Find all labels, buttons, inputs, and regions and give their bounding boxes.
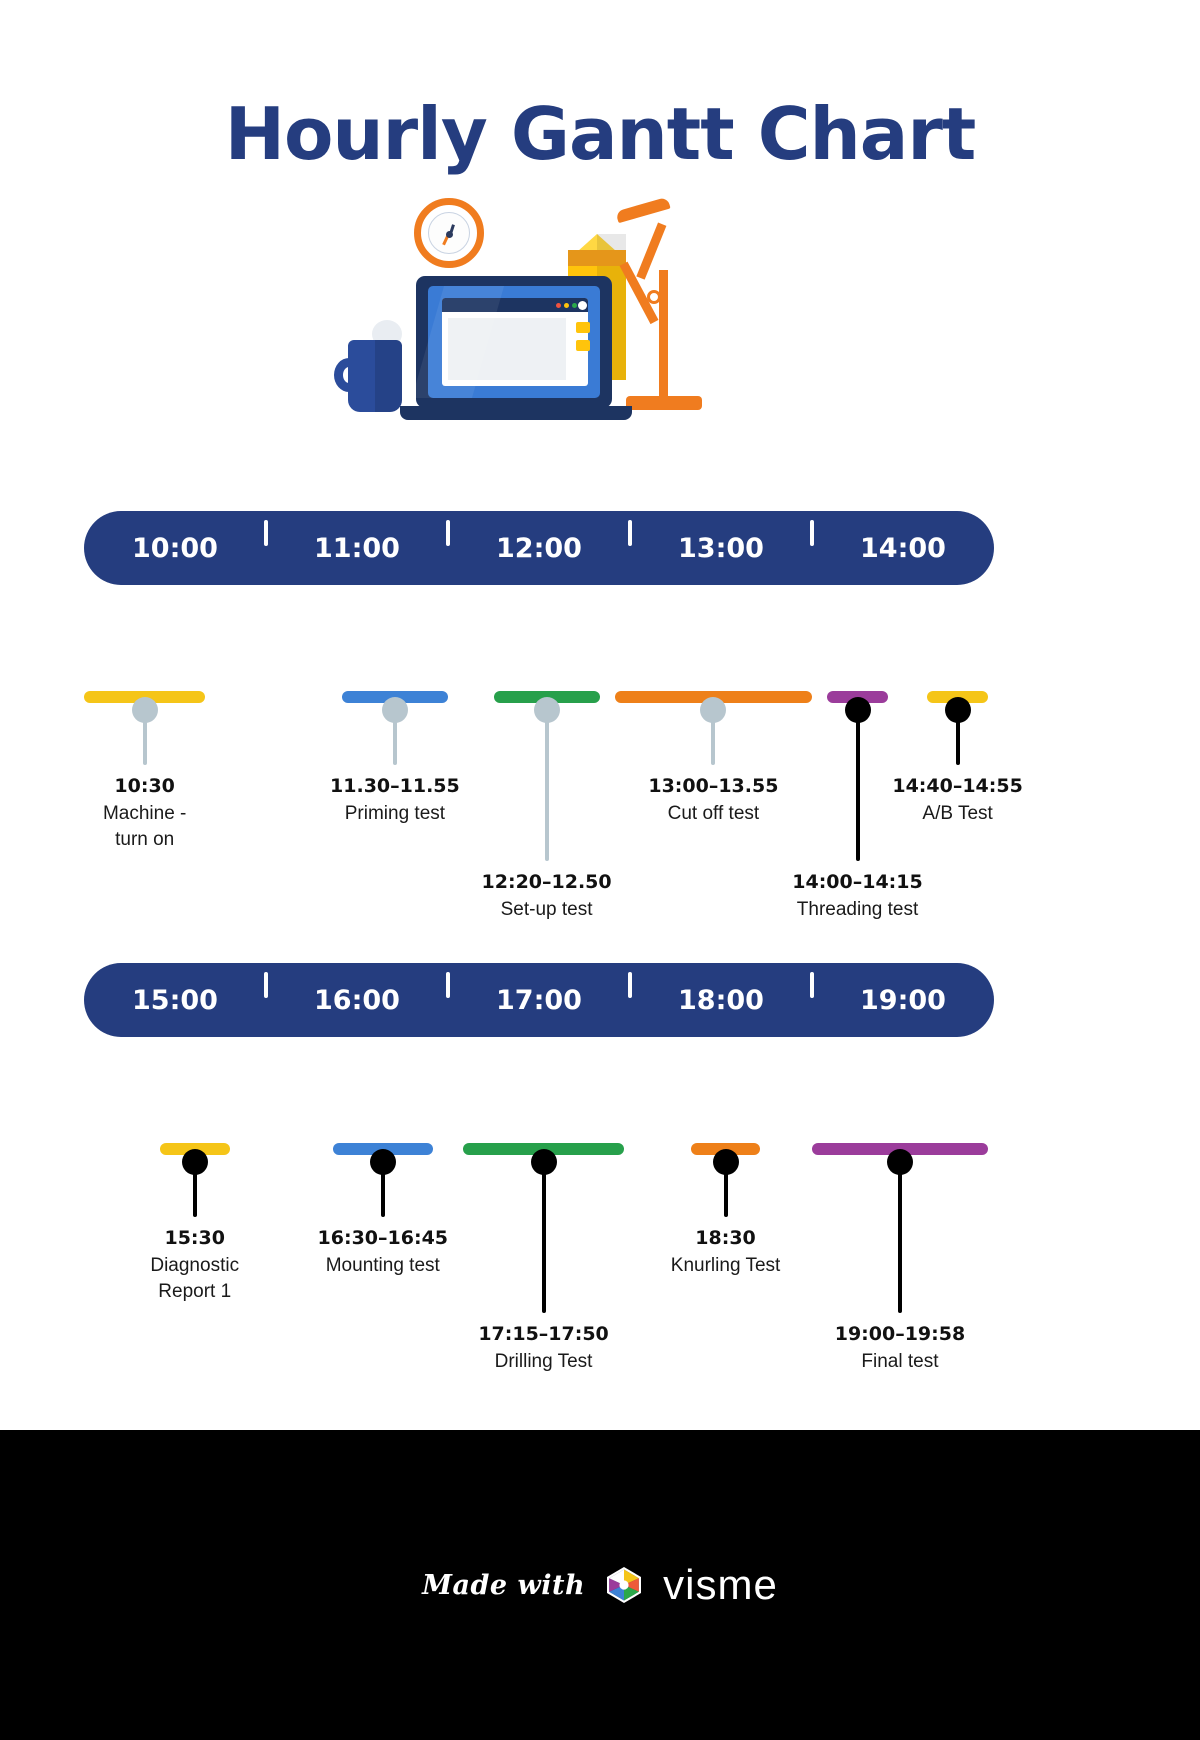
task-label: 17:15–17:50Drilling Test	[424, 1323, 664, 1375]
hour-tick-1600: 16:00	[266, 985, 448, 1016]
task-time: 17:15–17:50	[424, 1323, 664, 1345]
task-label: 18:30Knurling Test	[606, 1227, 846, 1279]
task-label: 14:00–14:15Threading test	[738, 871, 978, 923]
task-pin-stem	[545, 703, 549, 861]
window-dot-yellow	[564, 303, 569, 308]
task-time: 19:00–19:58	[780, 1323, 1020, 1345]
task-name: Set-up test	[427, 897, 667, 923]
task-canvas: 15:30DiagnosticReport 116:30–16:45Mounti…	[84, 1037, 994, 1367]
page-title: Hourly Gantt Chart	[0, 92, 1200, 176]
lamp-shade	[615, 197, 670, 223]
window-dot-white	[578, 301, 587, 310]
hour-tick-1000: 10:00	[84, 533, 266, 564]
timeline-section-morning: 10:0011:0012:0013:0014:0010:30Machine -t…	[84, 511, 994, 915]
hour-tick-1300: 13:00	[630, 533, 812, 564]
task-label: 13:00–13.55Cut off test	[593, 775, 833, 827]
task-pin-head[interactable]	[182, 1149, 208, 1175]
task-name: Priming test	[275, 801, 515, 827]
task-label: 19:00–19:58Final test	[780, 1323, 1020, 1375]
window-dot-red	[556, 303, 561, 308]
laptop-base	[400, 406, 632, 420]
task-name: Machine -turn on	[25, 801, 265, 852]
mug-shadow	[375, 340, 402, 412]
hour-axis-bar: 10:0011:0012:0013:0014:00	[84, 511, 994, 585]
task-time: 14:00–14:15	[738, 871, 978, 893]
task-canvas: 10:30Machine -turn on11.30–11.55Priming …	[84, 585, 994, 915]
hour-tick-1100: 11:00	[266, 533, 448, 564]
task-time: 18:30	[606, 1227, 846, 1249]
hour-tick-1700: 17:00	[448, 985, 630, 1016]
footer: Made with visme	[0, 1430, 1200, 1740]
hour-axis-bar: 15:0016:0017:0018:0019:00	[84, 963, 994, 1037]
task-pin-head[interactable]	[382, 697, 408, 723]
task-label: 12:20–12.50Set-up test	[427, 871, 667, 923]
timeline-section-afternoon: 15:0016:0017:0018:0019:0015:30Diagnostic…	[84, 963, 994, 1367]
task-time: 14:40–14:55	[838, 775, 1078, 797]
task-time: 11.30–11.55	[275, 775, 515, 797]
task-name: A/B Test	[838, 801, 1078, 827]
task-pin-head[interactable]	[531, 1149, 557, 1175]
pencil-band	[568, 250, 626, 266]
hour-tick-1400: 14:00	[812, 533, 994, 564]
task-label: 16:30–16:45Mounting test	[263, 1227, 503, 1279]
task-label: 10:30Machine -turn on	[25, 775, 265, 852]
task-time: 13:00–13.55	[593, 775, 833, 797]
hour-tick-1900: 19:00	[812, 985, 994, 1016]
window-dot-green	[572, 303, 577, 308]
task-pin-head[interactable]	[713, 1149, 739, 1175]
task-name: Drilling Test	[424, 1349, 664, 1375]
clock-center-dot	[446, 231, 453, 238]
task-label: 14:40–14:55A/B Test	[838, 775, 1078, 827]
task-name: Knurling Test	[606, 1253, 846, 1279]
task-name: Final test	[780, 1349, 1020, 1375]
task-pin-head[interactable]	[370, 1149, 396, 1175]
task-name: Cut off test	[593, 801, 833, 827]
visme-wordmark: visme	[663, 1561, 778, 1609]
hour-tick-1800: 18:00	[630, 985, 812, 1016]
screen-chip-two	[576, 340, 590, 351]
task-name: Mounting test	[263, 1253, 503, 1279]
lamp-joint	[647, 290, 661, 304]
task-pin-stem	[898, 1155, 902, 1313]
made-with-label: Made with	[422, 1570, 585, 1601]
task-pin-head[interactable]	[700, 697, 726, 723]
task-time: 12:20–12.50	[427, 871, 667, 893]
task-label: 11.30–11.55Priming test	[275, 775, 515, 827]
hour-tick-1200: 12:00	[448, 533, 630, 564]
screen-chip-one	[576, 322, 590, 333]
task-time: 10:30	[25, 775, 265, 797]
desk-lamp-icon	[626, 396, 702, 410]
task-pin-head[interactable]	[845, 697, 871, 723]
task-pin-head[interactable]	[132, 697, 158, 723]
task-name: Threading test	[738, 897, 978, 923]
task-time: 16:30–16:45	[263, 1227, 503, 1249]
task-pin-head[interactable]	[945, 697, 971, 723]
desk-workspace-illustration	[330, 190, 750, 450]
lamp-pole	[659, 270, 668, 398]
task-pin-head[interactable]	[887, 1149, 913, 1175]
hour-tick-1500: 15:00	[84, 985, 266, 1016]
task-pin-stem	[542, 1155, 546, 1313]
visme-logo-icon	[603, 1564, 645, 1606]
task-pin-head[interactable]	[534, 697, 560, 723]
